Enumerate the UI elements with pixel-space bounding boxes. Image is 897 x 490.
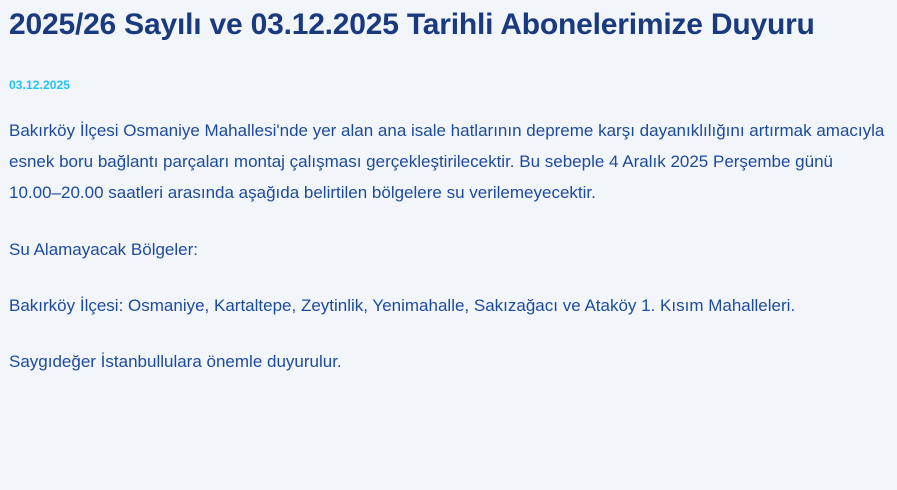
- paragraph-closing: Saygıdeğer İstanbullulara önemle duyurul…: [9, 346, 885, 377]
- paragraph-regions-heading: Su Alamayacak Bölgeler:: [9, 234, 885, 265]
- announcement-page: 2025/26 Sayılı ve 03.12.2025 Tarihli Abo…: [0, 0, 897, 490]
- paragraph-intro: Bakırköy İlçesi Osmaniye Mahallesi'nde y…: [9, 115, 885, 208]
- paragraph-regions-list: Bakırköy İlçesi: Osmaniye, Kartaltepe, Z…: [9, 290, 809, 321]
- page-title: 2025/26 Sayılı ve 03.12.2025 Tarihli Abo…: [9, 6, 849, 44]
- announcement-content: 2025/26 Sayılı ve 03.12.2025 Tarihli Abo…: [0, 0, 897, 377]
- publish-date: 03.12.2025: [9, 78, 885, 92]
- announcement-body: Bakırköy İlçesi Osmaniye Mahallesi'nde y…: [9, 115, 885, 377]
